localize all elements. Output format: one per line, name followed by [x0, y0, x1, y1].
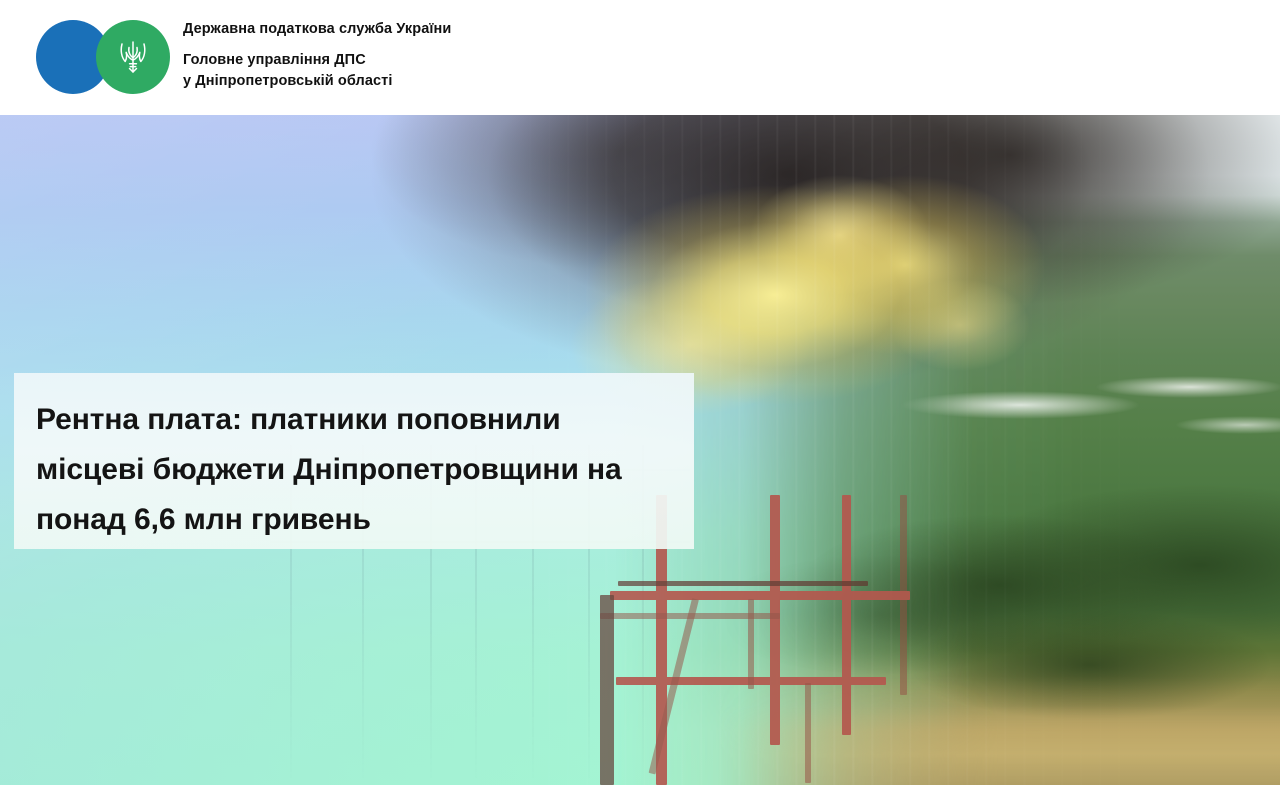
- site-header: Державна податкова служба України Головн…: [0, 0, 1280, 115]
- page-title: Рентна плата: платники поповнили місцеві…: [36, 395, 668, 545]
- org-name-region: у Дніпропетровській області: [183, 71, 883, 92]
- trident-emblem-icon: [96, 20, 170, 94]
- page-root: Державна податкова служба України Головн…: [0, 0, 1280, 785]
- org-name-primary: Державна податкова служба України: [183, 20, 883, 38]
- org-name-department: Головне управління ДПС: [183, 50, 883, 71]
- logo[interactable]: [36, 20, 176, 96]
- organisation-names: Державна податкова служба України Головн…: [183, 20, 883, 92]
- hero-banner: Рентна плата: платники поповнили місцеві…: [0, 115, 1280, 785]
- hero-title-panel: Рентна плата: платники поповнили місцеві…: [14, 373, 694, 549]
